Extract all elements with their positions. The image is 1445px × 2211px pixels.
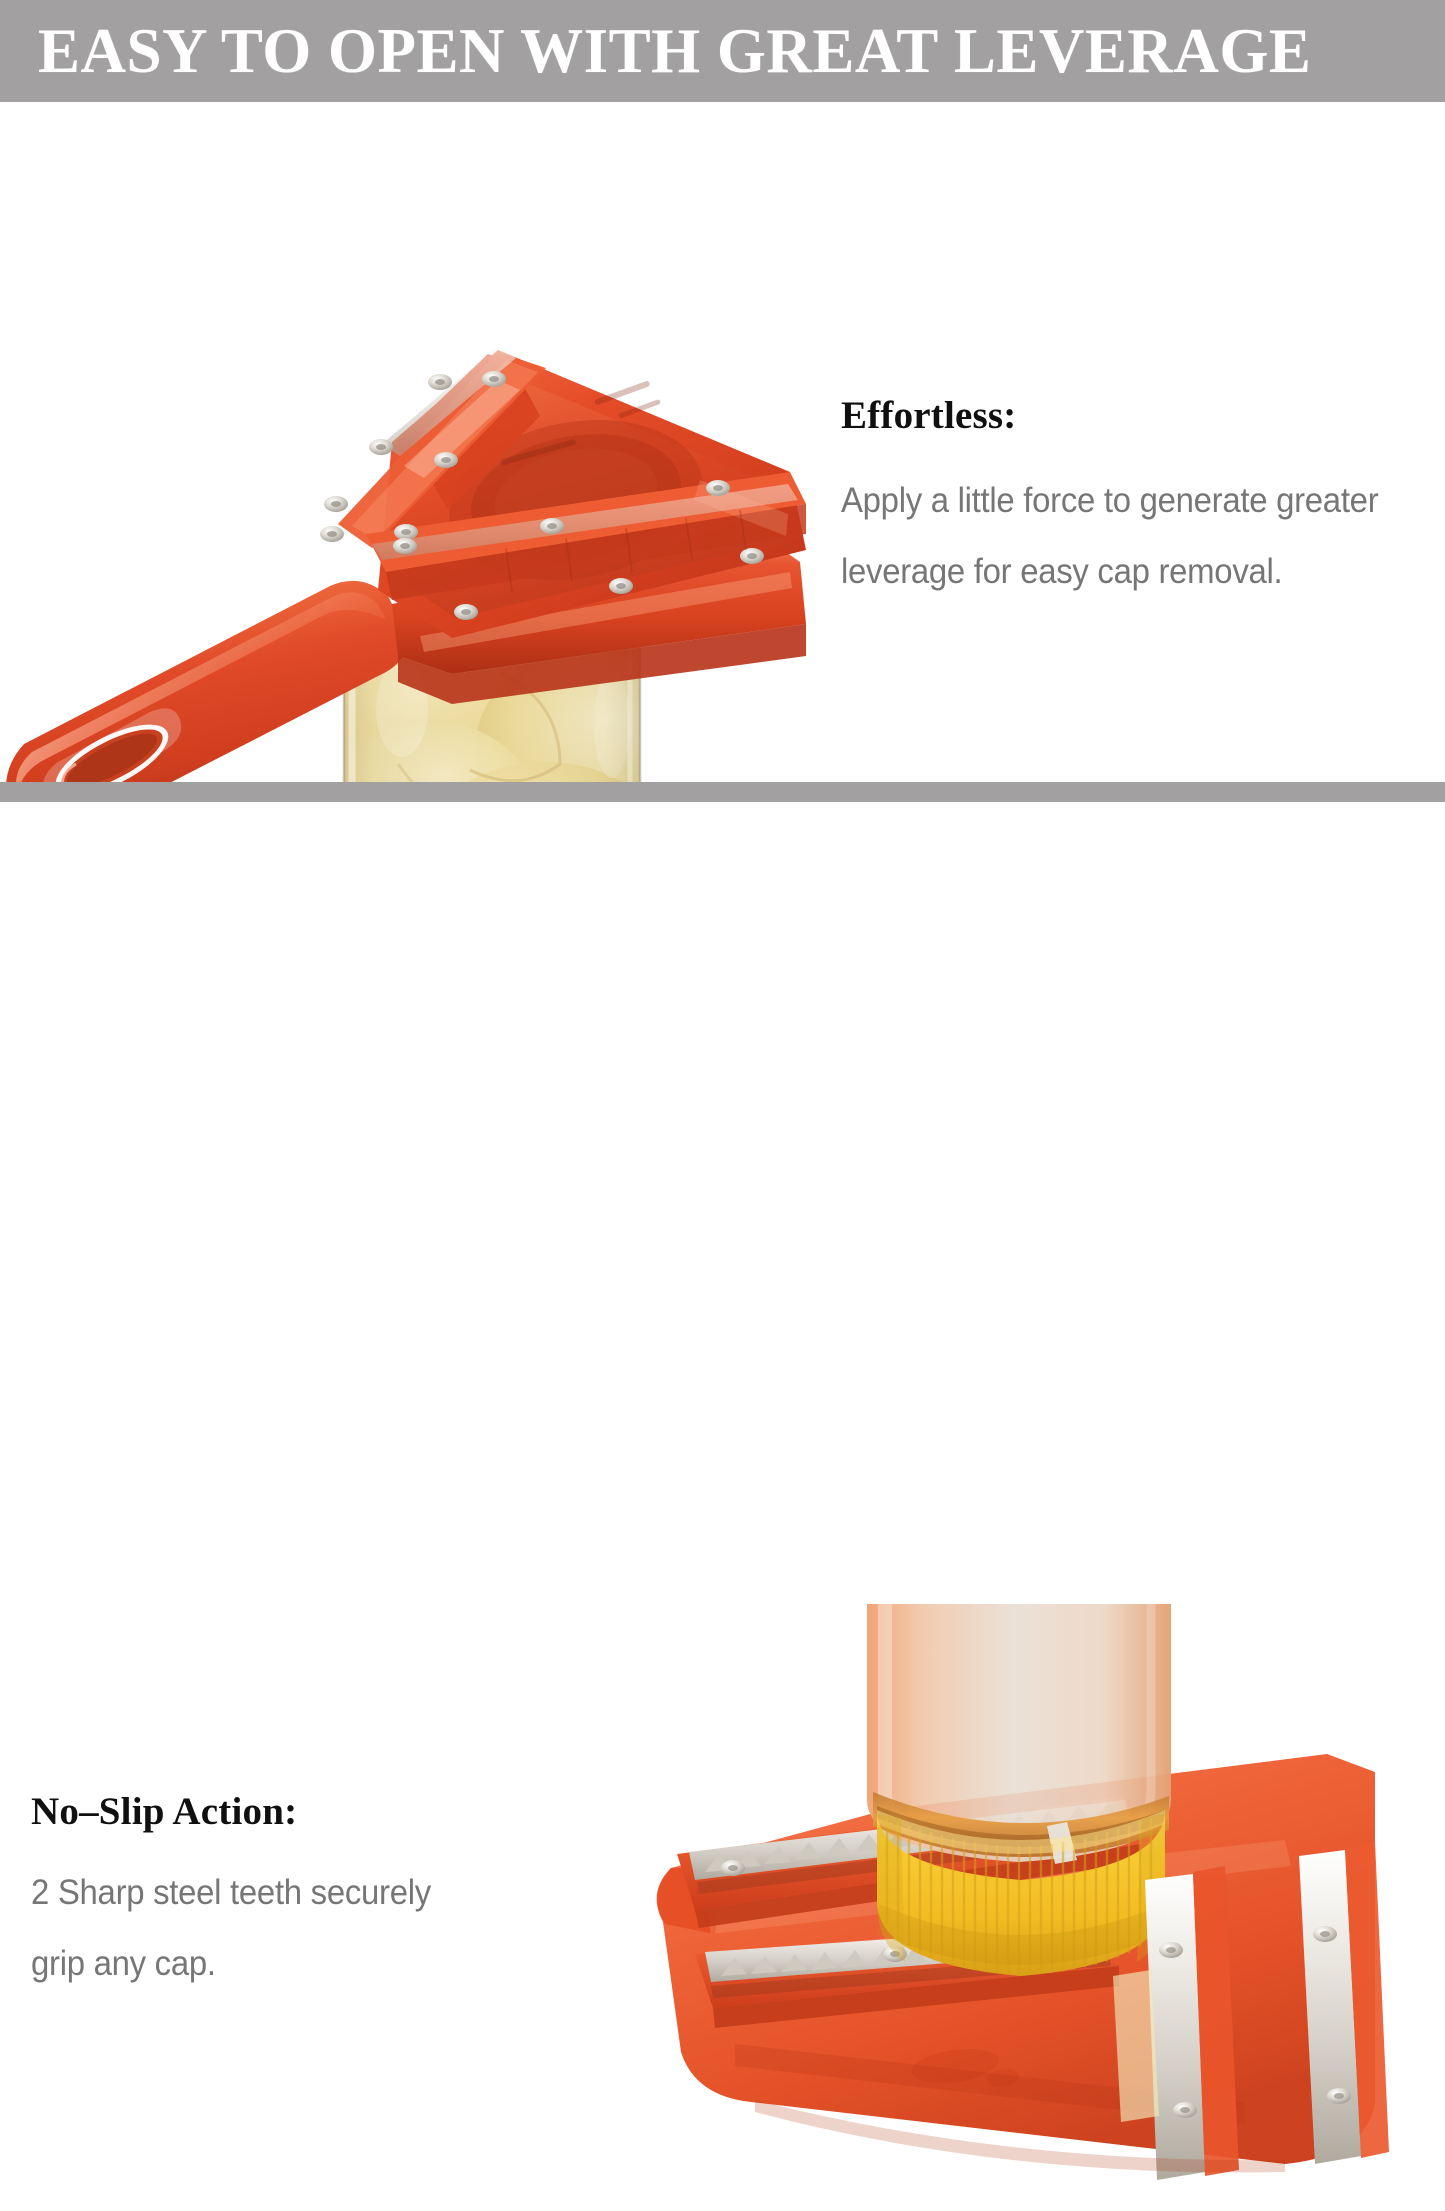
feature-heading: No–Slip Action:: [31, 1790, 501, 1835]
feature-body: Apply a little force to generate greater…: [841, 465, 1396, 607]
feature-block-no-slip-action: No–Slip Action: 2 Sharp steel teeth secu…: [31, 1790, 501, 1999]
feature-block-effortless: Effortless: Apply a little force to gene…: [841, 394, 1431, 607]
panel-top: Effortless: Apply a little force to gene…: [0, 102, 1445, 782]
feature-heading: Effortless:: [841, 394, 1431, 439]
panel-bottom: No–Slip Action: 2 Sharp steel teeth secu…: [0, 802, 1445, 1409]
page-title: EASY TO OPEN WITH GREAT LEVERAGE: [38, 20, 1311, 83]
feature-body: 2 Sharp steel teeth securely grip any ca…: [31, 1857, 473, 1999]
product-photo-teeth-gripping-cap: [585, 1604, 1445, 2211]
header-banner: EASY TO OPEN WITH GREAT LEVERAGE: [0, 0, 1445, 102]
section-divider: [0, 782, 1445, 802]
